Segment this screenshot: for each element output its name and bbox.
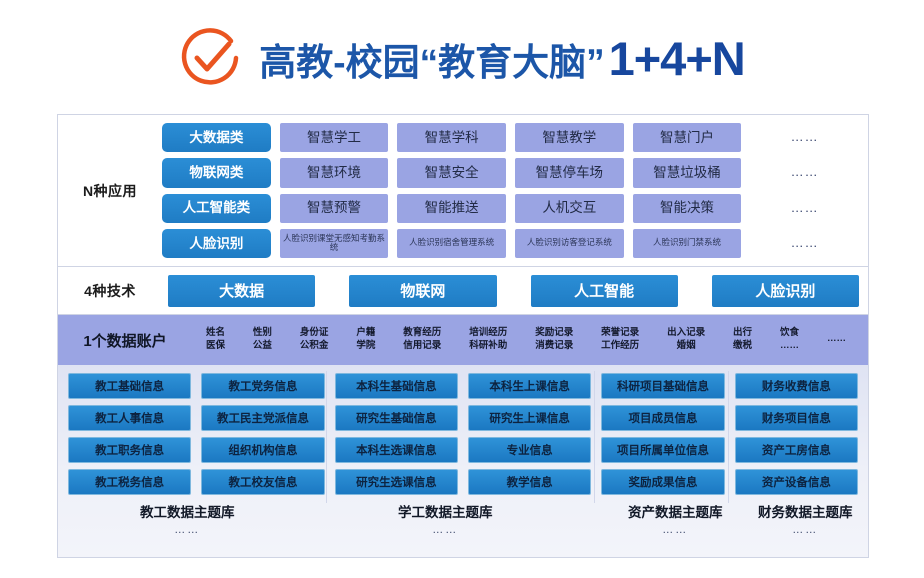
- application-cell[interactable]: 人脸识别门禁系统: [633, 229, 742, 258]
- database-box[interactable]: 奖励成果信息: [601, 469, 724, 495]
- section-data-account: 1个数据账户 姓名医保性别公益身份证公积金户籍学院教育经历信用记录培训经历科研补…: [58, 315, 868, 365]
- account-attribute: 婚姻: [677, 341, 696, 352]
- database-box[interactable]: 项目成员信息: [601, 405, 724, 431]
- database-box[interactable]: 资产工房信息: [735, 437, 858, 463]
- database-box[interactable]: 财务项目信息: [735, 405, 858, 431]
- application-cell[interactable]: 智慧垃圾桶: [633, 158, 742, 187]
- account-attribute: ……: [827, 334, 846, 345]
- database-box[interactable]: 研究生基础信息: [335, 405, 458, 431]
- section-technologies-label: 4种技术: [58, 281, 162, 301]
- account-attribute-column: 户籍学院: [342, 328, 389, 352]
- application-ellipsis[interactable]: ……: [750, 194, 859, 223]
- account-attribute: 性别: [253, 328, 272, 339]
- application-ellipsis[interactable]: ……: [750, 158, 859, 187]
- subject-database-grid: 教工基础信息教工党务信息本科生基础信息本科生上课信息科研项目基础信息财务收费信息…: [68, 373, 858, 495]
- application-cell[interactable]: 人工智能类: [162, 194, 271, 223]
- account-attribute: 学院: [356, 341, 375, 352]
- application-cell[interactable]: 人脸识别访客登记系统: [515, 229, 624, 258]
- application-ellipsis[interactable]: ……: [750, 229, 859, 258]
- application-cell[interactable]: 智能推送: [397, 194, 506, 223]
- database-box[interactable]: 教工基础信息: [68, 373, 191, 399]
- application-cell[interactable]: 大数据类: [162, 123, 271, 152]
- account-attribute: 医保: [206, 341, 225, 352]
- database-box[interactable]: 本科生上课信息: [468, 373, 591, 399]
- database-group-ellipsis: ……: [662, 524, 688, 536]
- account-attribute: 工作经历: [601, 341, 639, 352]
- application-cell[interactable]: 物联网类: [162, 158, 271, 187]
- account-attribute: 出行: [733, 328, 752, 339]
- database-box[interactable]: 本科生基础信息: [335, 373, 458, 399]
- page-title-formula: 1+4+N: [609, 35, 745, 82]
- database-group-title: 学工数据主题库: [398, 501, 493, 521]
- database-box[interactable]: 组织机构信息: [201, 437, 324, 463]
- database-group-footer: 资产数据主题库……: [628, 501, 723, 536]
- application-cell[interactable]: 人脸识别课堂无感知考勤系统: [280, 229, 389, 258]
- slide-root: 高教-校园“教育大脑” 1+4+N N种应用 大数据类智慧学工智慧学科智慧教学智…: [0, 0, 924, 578]
- application-cell[interactable]: 智慧门户: [633, 123, 742, 152]
- account-attribute: 户籍: [356, 328, 375, 339]
- application-cell[interactable]: 智慧停车场: [515, 158, 624, 187]
- database-group-ellipsis: ……: [174, 524, 200, 536]
- technology-box[interactable]: 人脸识别: [712, 275, 859, 307]
- account-attribute-column: 姓名医保: [192, 328, 239, 352]
- account-attribute: 身份证: [300, 328, 329, 339]
- database-box[interactable]: 教工民主党派信息: [201, 405, 324, 431]
- database-box[interactable]: 资产设备信息: [735, 469, 858, 495]
- database-box[interactable]: 教工人事信息: [68, 405, 191, 431]
- database-box[interactable]: 研究生上课信息: [468, 405, 591, 431]
- section-data-account-label: 1个数据账户: [58, 330, 192, 351]
- account-attribute-column: 饮食……: [766, 328, 813, 352]
- account-attribute-column: 出行缴税: [719, 328, 766, 352]
- account-attribute: 消费记录: [535, 341, 573, 352]
- application-cell[interactable]: 人机交互: [515, 194, 624, 223]
- application-cell[interactable]: 人脸识别宿舍管理系统: [397, 229, 506, 258]
- account-attribute-column: 教育经历信用记录: [389, 328, 455, 352]
- database-group-footer: 学工数据主题库……: [398, 501, 493, 536]
- account-attribute-column: ……: [813, 334, 860, 347]
- application-cell[interactable]: 智慧学工: [280, 123, 389, 152]
- database-box[interactable]: 教工职务信息: [68, 437, 191, 463]
- account-attribute: 奖励记录: [535, 328, 573, 339]
- check-circle-icon: [179, 27, 241, 89]
- section-applications: N种应用 大数据类智慧学工智慧学科智慧教学智慧门户……物联网类智慧环境智慧安全智…: [58, 115, 868, 267]
- application-cell[interactable]: 人脸识别: [162, 229, 271, 258]
- database-box[interactable]: 财务收费信息: [735, 373, 858, 399]
- db-column-divider: [326, 371, 327, 503]
- account-attribute: 信用记录: [403, 341, 441, 352]
- account-attribute: 培训经历: [469, 328, 507, 339]
- slide-header: 高教-校园“教育大脑” 1+4+N: [0, 16, 924, 100]
- applications-grid: 大数据类智慧学工智慧学科智慧教学智慧门户……物联网类智慧环境智慧安全智慧停车场智…: [162, 123, 859, 258]
- database-box[interactable]: 教学信息: [468, 469, 591, 495]
- application-cell[interactable]: 智慧安全: [397, 158, 506, 187]
- account-attribute-column: 性别公益: [239, 328, 286, 352]
- database-group-title: 财务数据主题库: [758, 501, 853, 521]
- database-box[interactable]: 教工税务信息: [68, 469, 191, 495]
- application-cell[interactable]: 智慧教学: [515, 123, 624, 152]
- technology-box[interactable]: 物联网: [349, 275, 496, 307]
- account-attribute: 科研补助: [469, 341, 507, 352]
- section-subject-databases: 教工基础信息教工党务信息本科生基础信息本科生上课信息科研项目基础信息财务收费信息…: [58, 365, 868, 557]
- section-applications-label: N种应用: [58, 123, 162, 258]
- database-group-ellipsis: ……: [792, 524, 818, 536]
- technology-box[interactable]: 人工智能: [531, 275, 678, 307]
- application-ellipsis[interactable]: ……: [750, 123, 859, 152]
- db-column-divider: [728, 371, 729, 503]
- database-box[interactable]: 项目所属单位信息: [601, 437, 724, 463]
- database-group-ellipsis: ……: [432, 524, 458, 536]
- database-group-title: 资产数据主题库: [628, 501, 723, 521]
- application-cell[interactable]: 智能决策: [633, 194, 742, 223]
- account-attribute-column: 奖励记录消费记录: [521, 328, 587, 352]
- page-title: 高教-校园“教育大脑”: [259, 44, 604, 81]
- account-attribute: 荣誉记录: [601, 328, 639, 339]
- application-cell[interactable]: 智慧学科: [397, 123, 506, 152]
- database-box[interactable]: 教工党务信息: [201, 373, 324, 399]
- application-cell[interactable]: 智慧环境: [280, 158, 389, 187]
- account-attribute: 缴税: [733, 341, 752, 352]
- technology-box[interactable]: 大数据: [168, 275, 315, 307]
- account-attribute: 出入记录: [667, 328, 705, 339]
- account-attribute: 教育经历: [403, 328, 441, 339]
- database-group-title: 教工数据主题库: [140, 501, 235, 521]
- application-cell[interactable]: 智慧预警: [280, 194, 389, 223]
- database-group-footer: 教工数据主题库……: [140, 501, 235, 536]
- database-box[interactable]: 科研项目基础信息: [601, 373, 724, 399]
- account-attribute-column: 身份证公积金: [286, 328, 342, 352]
- account-attribute: 饮食: [780, 328, 799, 339]
- database-group-footer: 财务数据主题库……: [758, 501, 853, 536]
- database-box[interactable]: 教工校友信息: [201, 469, 324, 495]
- account-attribute: ……: [780, 341, 799, 352]
- account-attribute-column: 荣誉记录工作经历: [587, 328, 653, 352]
- database-box[interactable]: 研究生选课信息: [335, 469, 458, 495]
- database-box[interactable]: 本科生选课信息: [335, 437, 458, 463]
- section-technologies: 4种技术 大数据物联网人工智能人脸识别: [58, 267, 868, 315]
- architecture-panel: N种应用 大数据类智慧学工智慧学科智慧教学智慧门户……物联网类智慧环境智慧安全智…: [57, 114, 869, 558]
- database-box[interactable]: 专业信息: [468, 437, 591, 463]
- account-attribute: 公益: [253, 341, 272, 352]
- account-attribute: 姓名: [206, 328, 225, 339]
- data-account-attributes: 姓名医保性别公益身份证公积金户籍学院教育经历信用记录培训经历科研补助奖励记录消费…: [192, 328, 868, 352]
- account-attribute: 公积金: [300, 341, 329, 352]
- technologies-grid: 大数据物联网人工智能人脸识别: [162, 275, 859, 307]
- db-column-divider: [594, 371, 595, 503]
- account-attribute-column: 培训经历科研补助: [455, 328, 521, 352]
- account-attribute-column: 出入记录婚姻: [653, 328, 719, 352]
